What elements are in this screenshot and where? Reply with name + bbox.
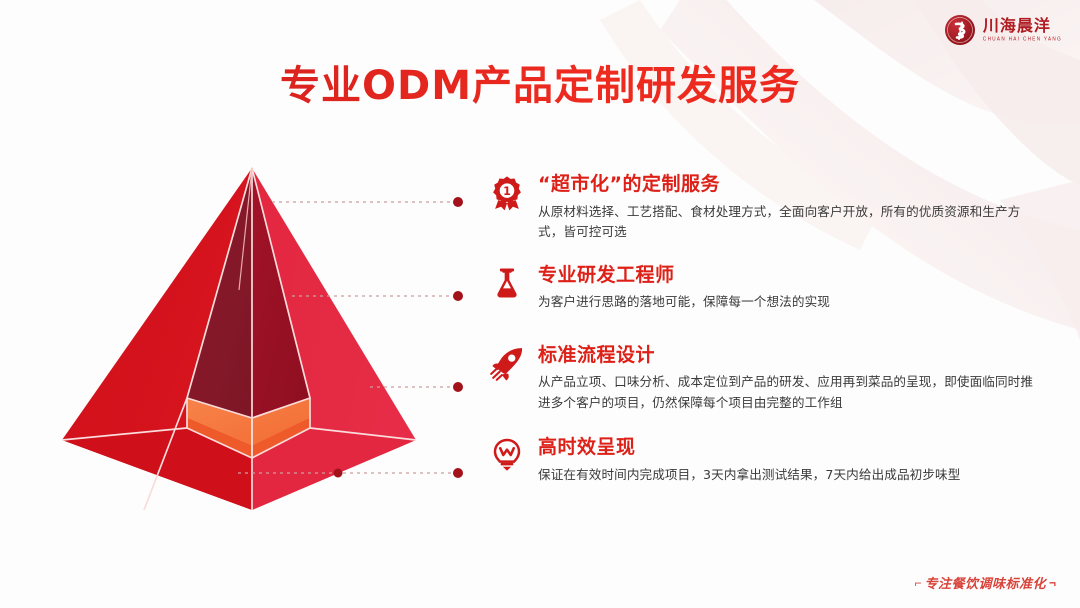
feature-description: 从原材料选择、工艺搭配、食材处理方式，全面向客户开放，所有的优质资源和生产方式，… xyxy=(538,202,1044,243)
lightbulb-icon xyxy=(484,437,530,483)
feature-title: 专业研发工程师 xyxy=(538,264,1044,288)
swirl-logo-icon xyxy=(944,14,976,46)
rocket-icon xyxy=(484,345,530,391)
brand-name-en: CHUAN HAI CHEN YANG xyxy=(983,37,1062,42)
slogan-text: 专注餐饮调味标准化 xyxy=(924,573,1046,592)
svg-text:1: 1 xyxy=(503,185,511,198)
slide-root: 川海晨洋 CHUAN HAI CHEN YANG 专业ODM产品定制研发服务 xyxy=(0,0,1080,608)
brand-name-cn: 川海晨洋 xyxy=(983,18,1051,34)
footer-slogan: ⌐ 专注餐饮调味标准化 ¬ xyxy=(914,573,1056,592)
lab-flask-icon xyxy=(484,265,530,311)
feature-body: 标准流程设计 从产品立项、口味分析、成本定位到产品的研发、应用再到菜品的呈现，即… xyxy=(538,343,1044,414)
brand-logo: 川海晨洋 CHUAN HAI CHEN YANG xyxy=(944,14,1062,46)
quote-close-mark: ¬ xyxy=(1049,577,1056,589)
feature-title: 标准流程设计 xyxy=(538,344,1044,368)
pyramid-svg xyxy=(56,150,456,525)
pyramid-diagram xyxy=(56,150,456,525)
feature-body: “超市化”的定制服务 从原材料选择、工艺搭配、食材处理方式，全面向客户开放，所有… xyxy=(538,172,1044,243)
feature-list: 1 “超市化”的定制服务 从原材料选择、工艺搭配、食材处理方式，全面向客户开放，… xyxy=(484,172,1044,485)
feature-item[interactable]: 1 “超市化”的定制服务 从原材料选择、工艺搭配、食材处理方式，全面向客户开放，… xyxy=(484,172,1044,243)
feature-title: “超市化”的定制服务 xyxy=(538,173,1044,197)
feature-item[interactable]: 高时效呈现 保证在有效时间内完成项目，3天内拿出测试结果，7天内给出成品初步味型 xyxy=(484,435,1044,485)
feature-item[interactable]: 标准流程设计 从产品立项、口味分析、成本定位到产品的研发、应用再到菜品的呈现，即… xyxy=(484,343,1044,414)
quote-open-mark: ⌐ xyxy=(914,577,921,589)
feature-description: 保证在有效时间内完成项目，3天内拿出测试结果，7天内给出成品初步味型 xyxy=(538,465,1044,485)
brand-wordmark: 川海晨洋 CHUAN HAI CHEN YANG xyxy=(983,18,1062,42)
page-title: 专业ODM产品定制研发服务 xyxy=(0,53,1080,111)
feature-description: 为客户进行思路的落地可能，保障每一个想法的实现 xyxy=(538,292,1044,312)
feature-title: 高时效呈现 xyxy=(538,436,1044,460)
feature-body: 专业研发工程师 为客户进行思路的落地可能，保障每一个想法的实现 xyxy=(538,263,1044,313)
feature-description: 从产品立项、口味分析、成本定位到产品的研发、应用再到菜品的呈现，即使面临同时推进… xyxy=(538,372,1044,413)
feature-item[interactable]: 专业研发工程师 为客户进行思路的落地可能，保障每一个想法的实现 xyxy=(484,263,1044,313)
feature-body: 高时效呈现 保证在有效时间内完成项目，3天内拿出测试结果，7天内给出成品初步味型 xyxy=(538,435,1044,485)
award-ribbon-1-icon: 1 xyxy=(484,174,530,220)
